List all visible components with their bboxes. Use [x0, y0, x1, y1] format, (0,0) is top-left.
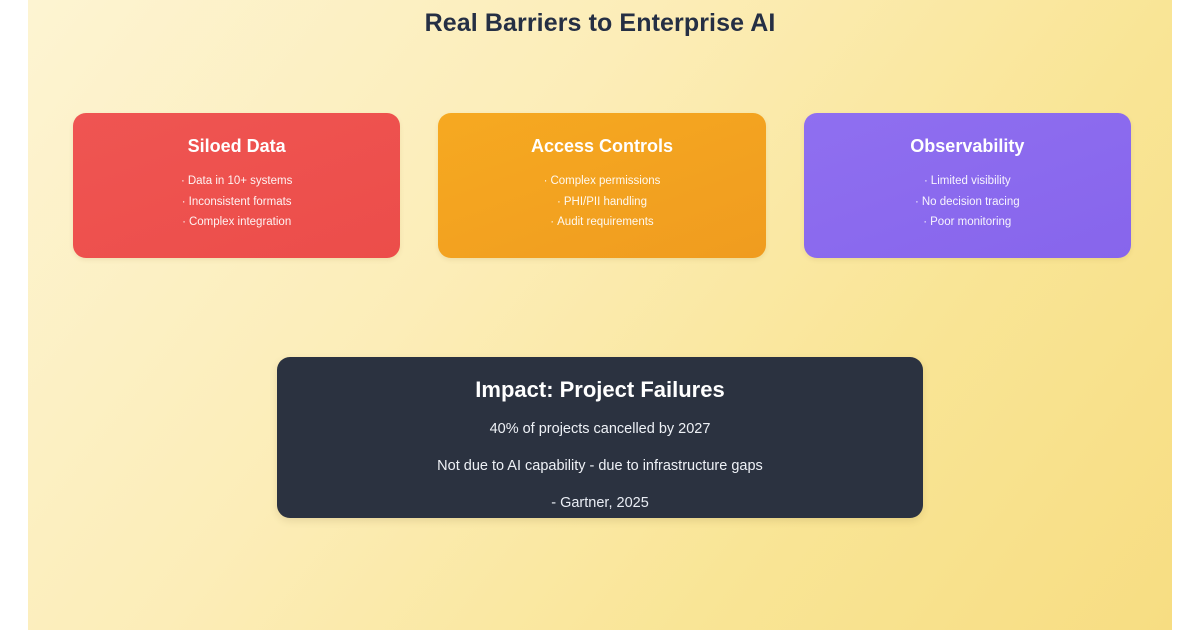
bullet-dot-icon: ·: [550, 212, 554, 233]
bullet-dot-icon: ·: [182, 192, 186, 213]
bullet-text: Limited visibility: [931, 175, 1011, 187]
bullet-text: Audit requirements: [557, 216, 654, 228]
list-item: ·Complex permissions: [452, 171, 751, 192]
bullet-dot-icon: ·: [923, 212, 927, 233]
bullet-text: PHI/PII handling: [564, 196, 647, 208]
list-item: ·Limited visibility: [818, 171, 1117, 192]
bullet-dot-icon: ·: [557, 192, 561, 213]
bullet-dot-icon: ·: [924, 171, 928, 192]
list-item: ·PHI/PII handling: [452, 192, 751, 213]
barrier-card-access-controls[interactable]: Access Controls ·Complex permissions ·PH…: [438, 113, 765, 258]
bullet-text: No decision tracing: [922, 196, 1020, 208]
list-item: ·Inconsistent formats: [87, 192, 386, 213]
impact-explanation-line: Not due to AI capability - due to infras…: [437, 456, 763, 476]
bullet-text: Poor monitoring: [930, 216, 1011, 228]
impact-panel-title: Impact: Project Failures: [475, 375, 724, 405]
list-item: ·Complex integration: [87, 212, 386, 233]
list-item: ·Data in 10+ systems: [87, 171, 386, 192]
barrier-card-title: Access Controls: [531, 135, 673, 157]
impact-source-citation: - Gartner, 2025: [551, 493, 649, 513]
list-item: ·No decision tracing: [818, 192, 1117, 213]
list-item: ·Audit requirements: [452, 212, 751, 233]
barrier-card-title: Observability: [910, 135, 1024, 157]
barrier-card-title: Siloed Data: [188, 135, 286, 157]
page-title: Real Barriers to Enterprise AI: [28, 7, 1172, 39]
bullet-dot-icon: ·: [915, 192, 919, 213]
bullet-dot-icon: ·: [182, 212, 186, 233]
bullet-text: Complex permissions: [550, 175, 660, 187]
impact-panel: Impact: Project Failures 40% of projects…: [277, 357, 923, 518]
barrier-cards-row: Siloed Data ·Data in 10+ systems ·Incons…: [73, 113, 1131, 258]
list-item: ·Poor monitoring: [818, 212, 1117, 233]
bullet-dot-icon: ·: [181, 171, 185, 192]
impact-statistic-line: 40% of projects cancelled by 2027: [490, 419, 711, 439]
bullet-text: Data in 10+ systems: [188, 175, 293, 187]
barrier-card-bullet-list: ·Limited visibility ·No decision tracing…: [818, 171, 1117, 233]
bullet-text: Inconsistent formats: [189, 196, 292, 208]
barrier-card-bullet-list: ·Data in 10+ systems ·Inconsistent forma…: [87, 171, 386, 233]
barrier-card-bullet-list: ·Complex permissions ·PHI/PII handling ·…: [452, 171, 751, 233]
barrier-card-observability[interactable]: Observability ·Limited visibility ·No de…: [804, 113, 1131, 258]
bullet-text: Complex integration: [189, 216, 291, 228]
bullet-dot-icon: ·: [544, 171, 548, 192]
slide-canvas: Real Barriers to Enterprise AI Siloed Da…: [28, 0, 1172, 630]
barrier-card-siloed-data[interactable]: Siloed Data ·Data in 10+ systems ·Incons…: [73, 113, 400, 258]
